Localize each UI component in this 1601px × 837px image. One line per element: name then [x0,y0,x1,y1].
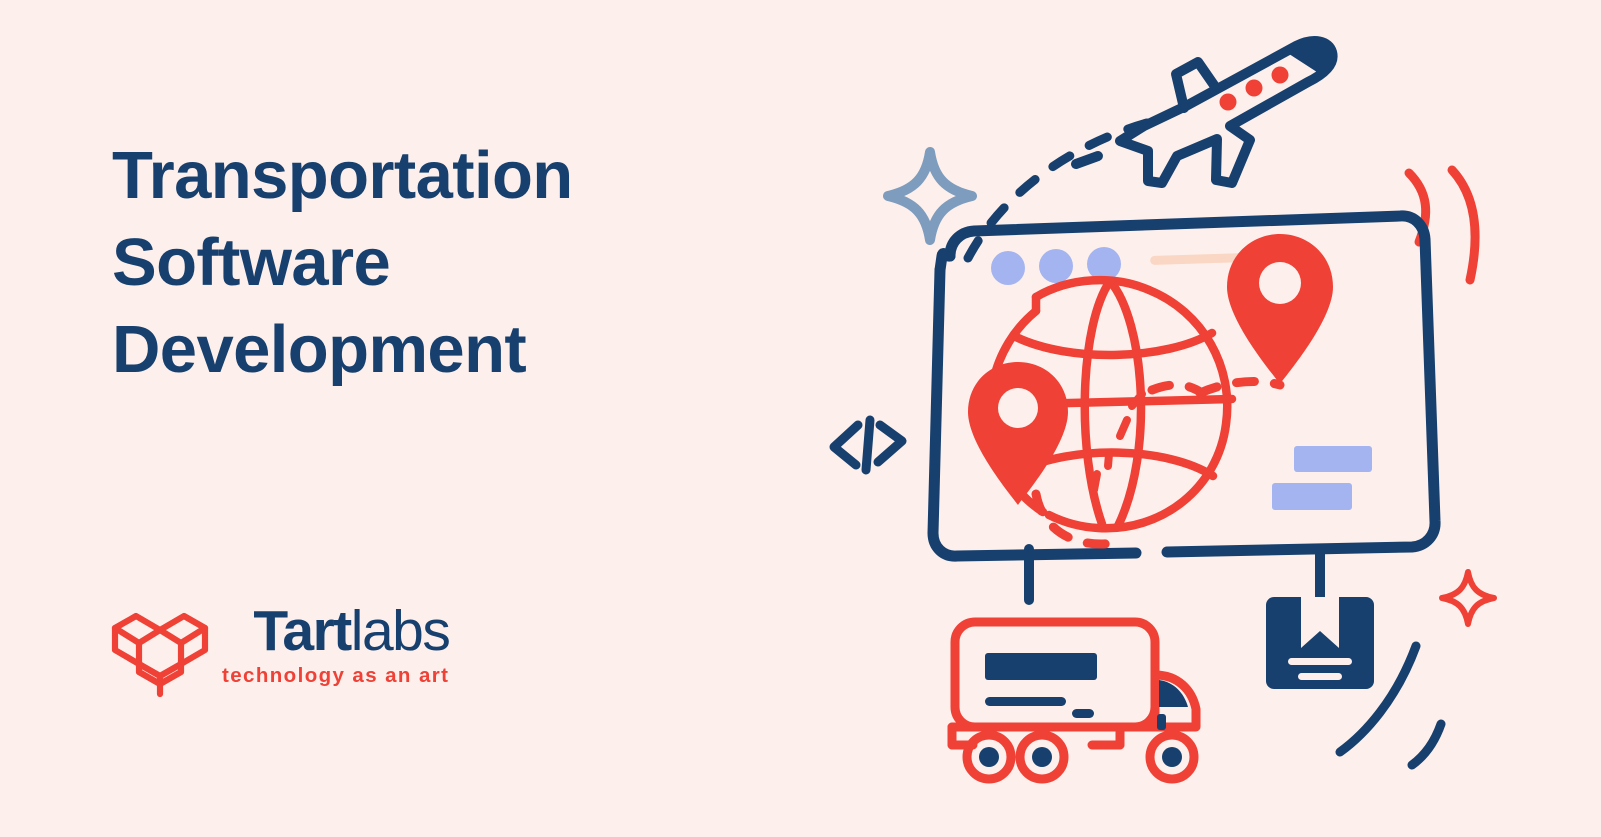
sparkle-red-icon [1442,572,1494,624]
delivery-truck-icon[interactable] [952,622,1196,779]
content-bar-bottom[interactable] [1272,483,1352,510]
logo-wordmark: Tartlabs [253,604,449,660]
logo-word-light: labs [351,599,450,663]
package-line-2 [1298,673,1342,680]
signal-arc-red-outer [1452,170,1475,280]
sparkle-slate-icon [888,152,972,240]
browser-dot-1[interactable] [991,251,1025,285]
headline-block: Transportation Software Development [112,132,752,393]
transportation-illustration [780,0,1601,837]
browser-dot-2[interactable] [1039,249,1073,283]
truck-label-block [985,653,1097,680]
banner-root: Transportation Software Development Tart… [0,0,1601,837]
airplane-window-dot [1220,94,1237,111]
content-bar-top[interactable] [1294,446,1372,472]
map-pin-origin[interactable] [968,362,1068,505]
logo-word-bold: Tart [253,599,350,663]
page-title: Transportation Software Development [112,132,752,393]
airplane-window-dot [1272,67,1289,84]
browser-dot-3[interactable] [1087,247,1121,281]
map-pin-destination[interactable] [1227,234,1333,384]
airplane-window-dot [1246,80,1263,97]
package-box-icon[interactable] [1266,597,1374,689]
truck-label-dot [1072,709,1094,718]
illustration-canvas [780,0,1601,837]
logo-tagline: technology as an art [222,664,449,688]
airplane-icon [1076,41,1333,183]
brand-logo[interactable]: Tartlabs technology as an art [110,604,449,698]
code-brackets-icon [834,420,902,470]
truck-label-line [985,697,1066,706]
package-line-1 [1288,658,1352,665]
tartlabs-logo-icon [110,606,210,698]
dashed-route-line [1152,381,1280,393]
logo-wordmark-group: Tartlabs technology as an art [222,604,449,688]
motion-arc-navy-short [1412,724,1441,765]
